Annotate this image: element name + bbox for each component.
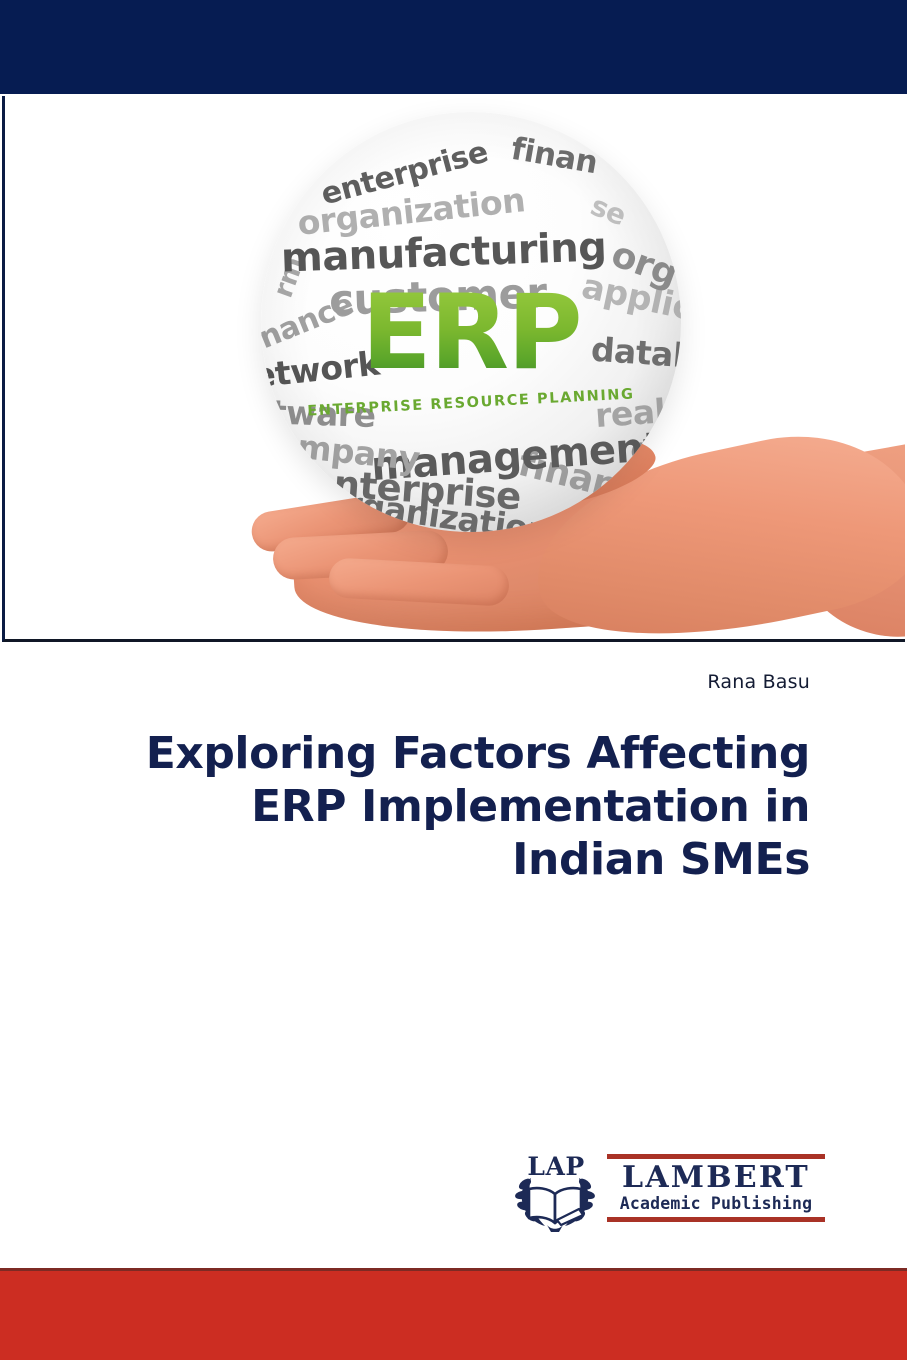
logo-rule-bottom bbox=[607, 1217, 825, 1222]
cover-photograph: seorganizationesfinanceenterprisermcmana… bbox=[5, 96, 905, 639]
publisher-wordmark: LAMBERT Academic Publishing bbox=[607, 1154, 825, 1222]
erp-word-sphere: seorganizationesfinanceenterprisermcmana… bbox=[261, 112, 681, 532]
erp-headline: ERP bbox=[361, 286, 580, 381]
sphere-word: databa bbox=[590, 330, 681, 378]
title-line-3: Indian SMEs bbox=[80, 833, 810, 886]
logo-rule-top bbox=[607, 1154, 825, 1159]
title-line-1: Exploring Factors Affecting bbox=[80, 727, 810, 780]
book-cover: seorganizationesfinanceenterprisermcmana… bbox=[0, 0, 907, 1360]
sphere-word: finan bbox=[509, 131, 601, 182]
title-line-2: ERP Implementation in bbox=[80, 780, 810, 833]
publisher-tagline: Academic Publishing bbox=[607, 1194, 825, 1215]
lap-monogram: LAP bbox=[521, 1152, 591, 1181]
author-name: Rana Basu bbox=[707, 671, 810, 693]
top-navy-band bbox=[0, 0, 907, 94]
publisher-name: LAMBERT bbox=[607, 1162, 825, 1194]
cover-image-frame: seorganizationesfinanceenterprisermcmana… bbox=[2, 96, 905, 642]
book-title: Exploring Factors Affecting ERP Implemen… bbox=[80, 727, 810, 887]
publisher-logo: LAP LAMBERT Academic Publishing bbox=[513, 1152, 825, 1236]
bottom-red-band bbox=[0, 1268, 907, 1360]
